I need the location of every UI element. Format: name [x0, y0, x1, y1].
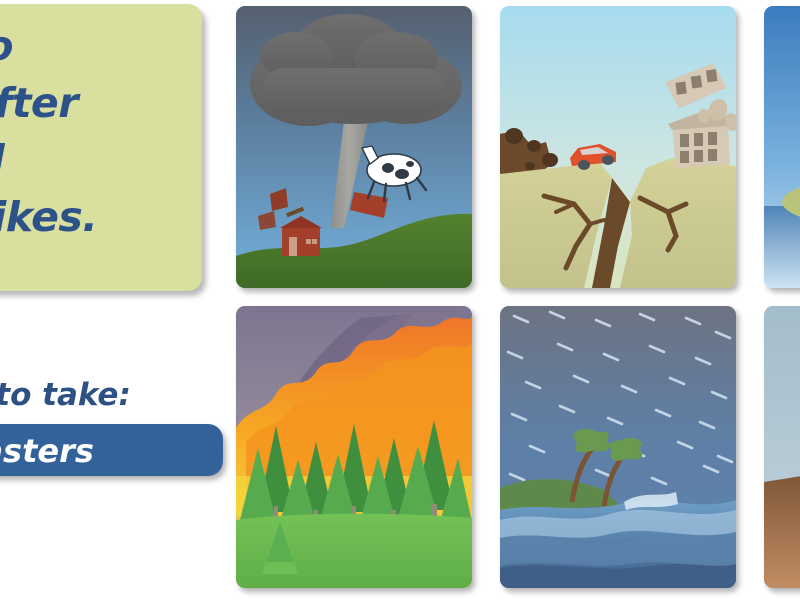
panel-flood[interactable] — [764, 306, 800, 588]
tornado-illustration — [236, 6, 472, 288]
tsunami-illustration — [764, 6, 800, 288]
url-banner-label: ov/disasters — [0, 429, 94, 473]
wildfire-illustration — [236, 306, 472, 588]
panel-earthquake[interactable] — [500, 6, 736, 288]
hurricane-illustration — [500, 306, 736, 588]
panel-hurricane[interactable] — [500, 306, 736, 588]
panel-wildfire[interactable] — [236, 306, 472, 588]
headline-card: to do nd after tural r strikes. — [0, 4, 202, 291]
url-banner[interactable]: ov/disasters — [0, 424, 223, 476]
panel-tsunami[interactable] — [764, 6, 800, 288]
poster-canvas: to do nd after tural r strikes. teps to … — [0, 0, 800, 600]
page-title: to do nd after tural r strikes. — [0, 18, 196, 246]
panel-tornado[interactable] — [236, 6, 472, 288]
earthquake-illustration — [500, 6, 736, 288]
flood-illustration — [764, 306, 800, 588]
